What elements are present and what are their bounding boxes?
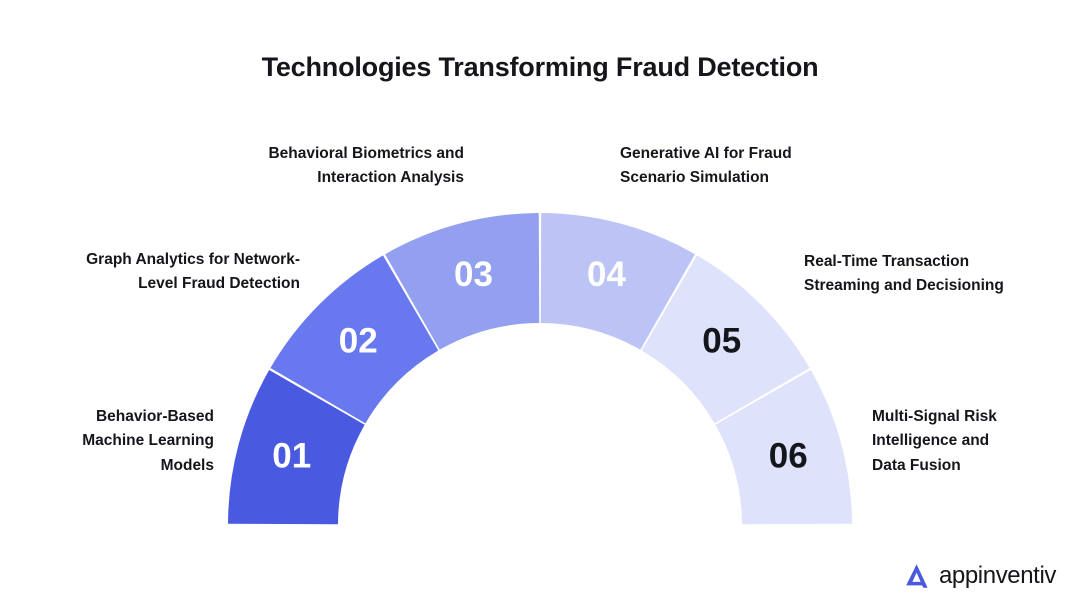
infographic-root: Technologies Transforming Fraud Detectio… xyxy=(0,0,1080,614)
arc-segment-group xyxy=(228,213,852,524)
segment-number-03: 03 xyxy=(454,255,493,294)
appinventiv-mark-icon xyxy=(900,560,934,592)
segment-number-02: 02 xyxy=(339,322,378,361)
segment-number-04: 04 xyxy=(587,255,626,294)
callout-label-05: Real-Time TransactionStreaming and Decis… xyxy=(804,250,1066,299)
segment-number-05: 05 xyxy=(702,322,741,361)
brand-logo: appinventiv xyxy=(900,560,1056,592)
segment-number-06: 06 xyxy=(769,437,808,476)
segment-number-01: 01 xyxy=(272,437,311,476)
callout-label-02: Graph Analytics for Network-Level Fraud … xyxy=(16,248,300,297)
callout-label-06: Multi-Signal RiskIntelligence andData Fu… xyxy=(872,405,1072,478)
brand-logo-text: appinventiv xyxy=(939,562,1056,590)
semicircular-arc-chart: 010203040506 xyxy=(0,0,1080,614)
callout-label-04: Generative AI for FraudScenario Simulati… xyxy=(620,142,890,191)
callout-label-03: Behavioral Biometrics andInteraction Ana… xyxy=(196,142,464,191)
callout-label-01: Behavior-BasedMachine LearningModels xyxy=(18,405,214,478)
